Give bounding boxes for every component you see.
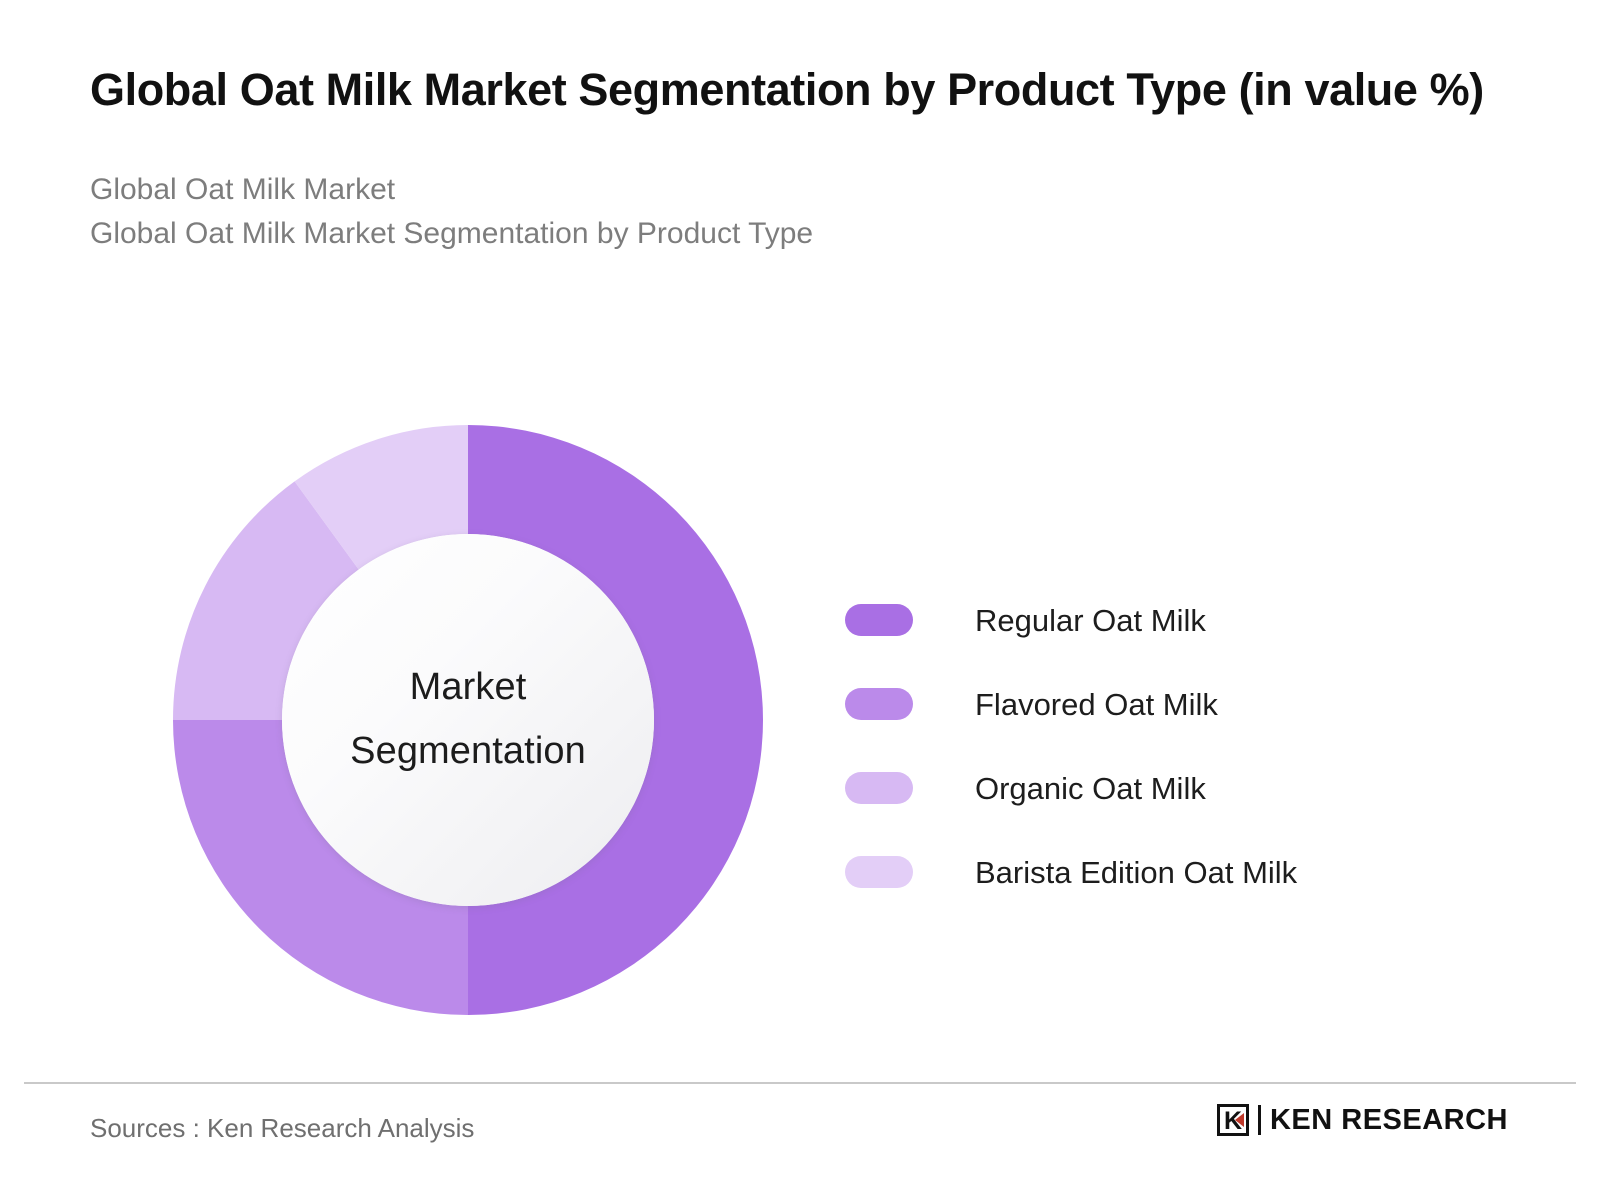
legend-item-regular-oat-milk[interactable]: Regular Oat Milk — [845, 578, 1465, 662]
legend-label: Organic Oat Milk — [975, 773, 1206, 804]
page-title: Global Oat Milk Market Segmentation by P… — [90, 62, 1490, 118]
legend-swatch-icon — [845, 604, 913, 636]
source-note: Sources : Ken Research Analysis — [90, 1113, 474, 1144]
legend-item-flavored-oat-milk[interactable]: Flavored Oat Milk — [845, 662, 1465, 746]
ken-research-logo-icon: K — [1217, 1104, 1249, 1136]
logo-triangle-accent — [1235, 1113, 1244, 1127]
legend-label: Regular Oat Milk — [975, 605, 1206, 636]
subtitle-line-2: Global Oat Milk Market Segmentation by P… — [90, 212, 1510, 256]
logo-divider — [1258, 1105, 1261, 1135]
legend-label: Barista Edition Oat Milk — [975, 857, 1297, 888]
donut-center-label-line-1: Market — [410, 656, 527, 720]
brand-logo: K KEN RESEARCH — [1217, 1104, 1508, 1136]
subtitle-line-1: Global Oat Milk Market — [90, 168, 1510, 212]
legend-item-organic-oat-milk[interactable]: Organic Oat Milk — [845, 746, 1465, 830]
slide-canvas: Global Oat Milk Market Segmentation by P… — [0, 0, 1600, 1200]
legend-label: Flavored Oat Milk — [975, 689, 1218, 720]
legend-item-barista-edition-oat-milk[interactable]: Barista Edition Oat Milk — [845, 830, 1465, 914]
subtitle-block: Global Oat Milk Market Global Oat Milk M… — [90, 168, 1510, 256]
footer: Sources : Ken Research Analysis K KEN RE… — [0, 1082, 1600, 1200]
donut-center-hub: Market Segmentation — [282, 534, 654, 906]
header: Global Oat Milk Market Segmentation by P… — [90, 62, 1510, 256]
brand-name: KEN RESEARCH — [1270, 1106, 1508, 1135]
chart-area: Market Segmentation Regular Oat Milk Fla… — [0, 400, 1600, 1060]
legend-swatch-icon — [845, 688, 913, 720]
chart-legend: Regular Oat Milk Flavored Oat Milk Organ… — [845, 578, 1465, 914]
donut-center-label-line-2: Segmentation — [350, 720, 586, 784]
legend-swatch-icon — [845, 772, 913, 804]
donut-chart: Market Segmentation — [173, 425, 763, 1015]
legend-swatch-icon — [845, 856, 913, 888]
